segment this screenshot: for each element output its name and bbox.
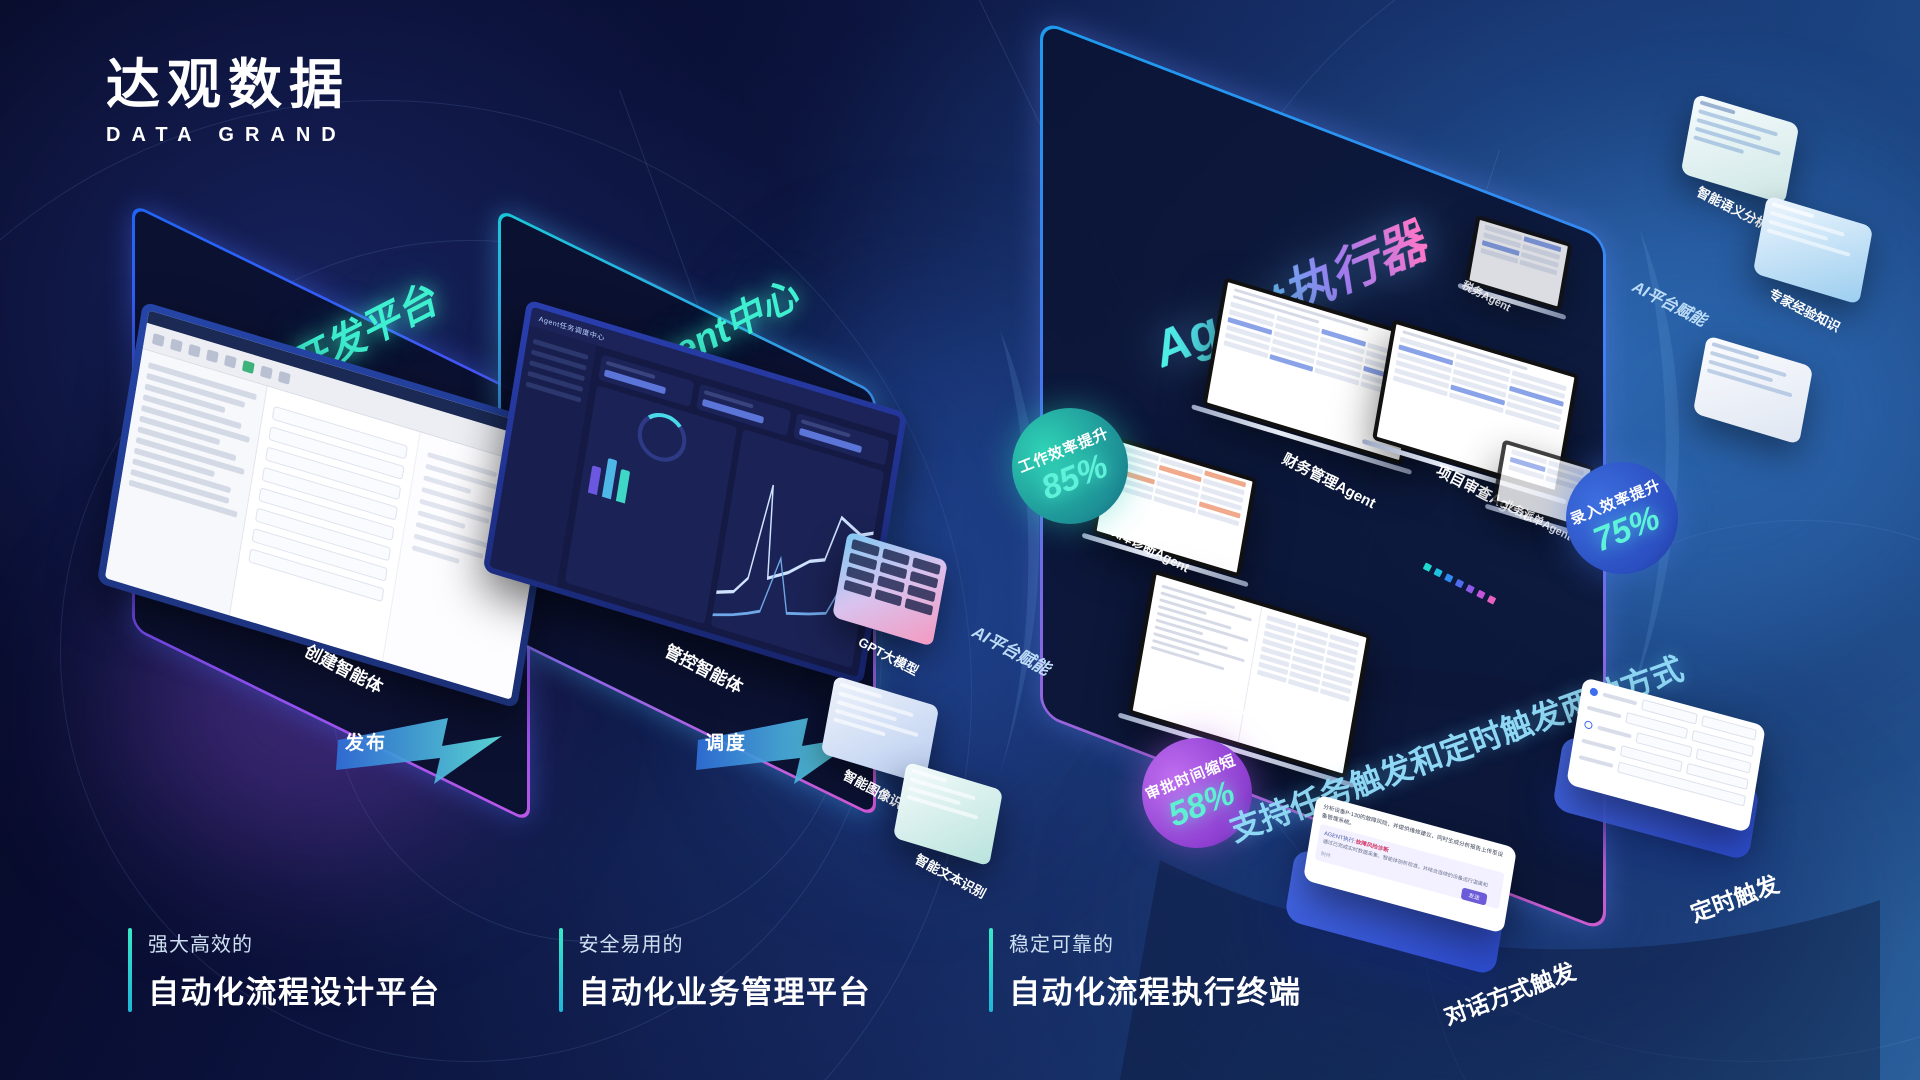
toolbar-icon-copy[interactable] — [206, 349, 219, 363]
caption-sub: 稳定可靠的 — [1009, 928, 1302, 957]
caption-main: 自动化流程设计平台 — [148, 967, 441, 1012]
caption-main: 自动化业务管理平台 — [579, 967, 872, 1012]
toolbar-icon-stop[interactable] — [278, 370, 291, 384]
knowledge-graph-card[interactable] — [1693, 335, 1813, 444]
brand-name-cn: 达观数据 — [106, 58, 350, 112]
caption-business-platform: 安全易用的 自动化业务管理平台 — [559, 928, 872, 1012]
caption-main: 自动化流程执行终端 — [1009, 967, 1302, 1012]
decor-dot-progress — [1423, 562, 1497, 604]
brand-logo: 达观数据 DATA GRAND — [106, 58, 350, 147]
tax-agent-device[interactable] — [1463, 215, 1572, 318]
caption-design-platform: 强大高效的 自动化流程设计平台 — [128, 928, 441, 1012]
gauge-chart — [565, 385, 738, 624]
label-ai-platform-right: AI平台赋能 — [1629, 273, 1711, 331]
caption-sub: 强大高效的 — [148, 928, 441, 957]
decor-ring-right — [1160, 0, 1920, 1062]
infographic-canvas: 达观数据 DATA GRAND Agent开发平台 Multi-Agent中心 … — [0, 0, 1920, 1080]
radio-option[interactable] — [1589, 687, 1598, 697]
brand-name-en: DATA GRAND — [106, 124, 350, 147]
toolbar-icon-open[interactable] — [152, 333, 165, 347]
label-ai-platform-mid: AI平台赋能 — [968, 621, 1054, 681]
caption-accent-bar — [559, 928, 563, 1012]
toolbar-icon-paste[interactable] — [224, 354, 237, 368]
arrow-publish — [330, 700, 530, 810]
toolbar-icon-debug[interactable] — [260, 365, 273, 379]
radio-option[interactable] — [1584, 719, 1593, 729]
multi-agent-monitor[interactable]: Agent任务调度中心 — [483, 299, 908, 685]
arrow-label-publish: 发布 — [345, 728, 387, 755]
text-recognition-card[interactable] — [893, 762, 1003, 866]
toolbar-icon-run[interactable] — [242, 360, 255, 374]
caption-exec-terminal: 稳定可靠的 自动化流程执行终端 — [989, 928, 1302, 1012]
toolbar-icon-save[interactable] — [170, 338, 183, 352]
arrow-label-dispatch: 调度 — [705, 728, 747, 755]
label-timed-trigger: 定时触发 — [1685, 865, 1783, 928]
toolbar-icon-cut[interactable] — [188, 343, 201, 357]
caption-accent-bar — [128, 928, 132, 1012]
caption-accent-bar — [989, 928, 993, 1012]
bottom-captions: 强大高效的 自动化流程设计平台 安全易用的 自动化业务管理平台 稳定可靠的 自动… — [128, 928, 1302, 1012]
caption-sub: 安全易用的 — [579, 928, 872, 957]
